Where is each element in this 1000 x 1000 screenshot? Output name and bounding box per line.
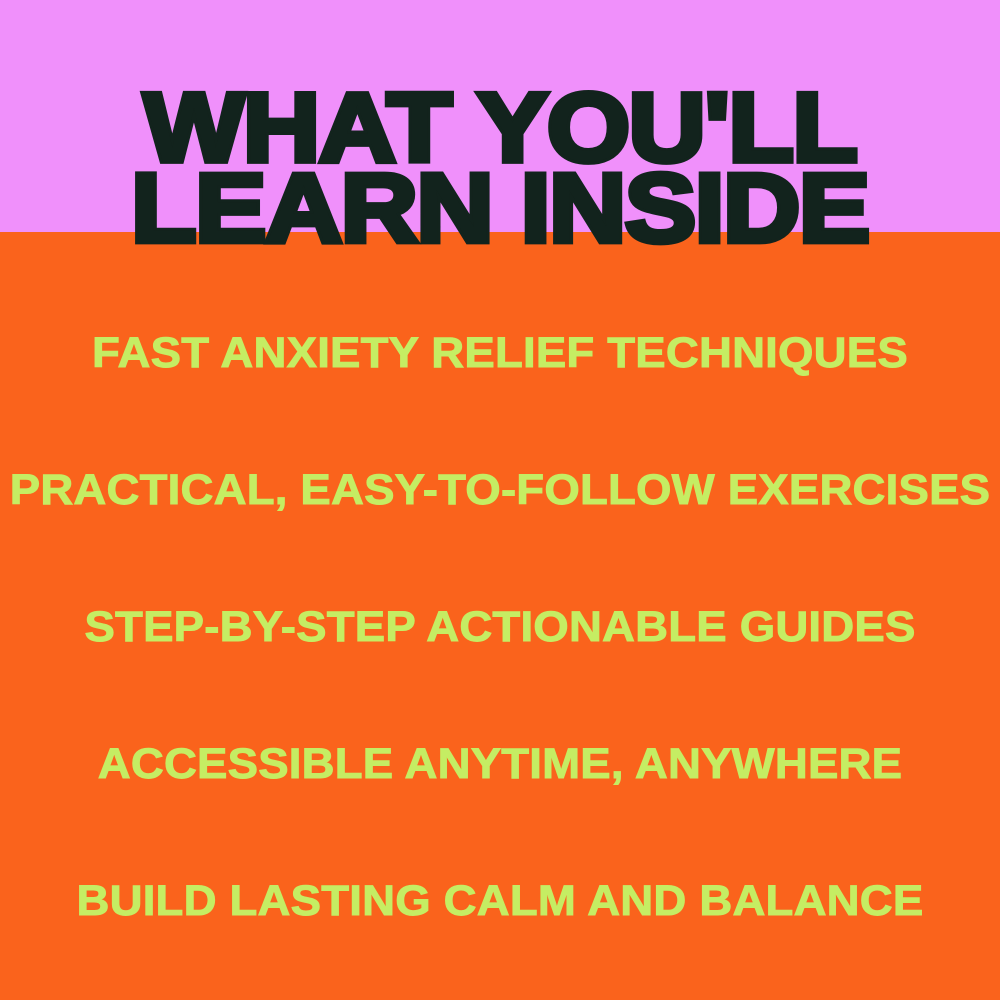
benefit-item: BUILD LASTING CALM AND BALANCE xyxy=(0,880,1000,923)
promo-card: WHAT YOU'LLLEARN INSIDE FAST ANXIETY REL… xyxy=(0,0,1000,1000)
benefit-item: STEP-BY-STEP ACTIONABLE GUIDES xyxy=(0,606,1000,649)
header-band: WHAT YOU'LLLEARN INSIDE xyxy=(0,0,1000,232)
page-title: WHAT YOU'LLLEARN INSIDE xyxy=(0,90,1000,248)
benefit-item: ACCESSIBLE ANYTIME, ANYWHERE xyxy=(0,743,1000,786)
benefit-item: FAST ANXIETY RELIEF TECHNIQUES xyxy=(0,332,1000,375)
benefit-item: PRACTICAL, EASY-TO-FOLLOW EXERCISES xyxy=(0,469,1000,512)
benefits-list: FAST ANXIETY RELIEF TECHNIQUES PRACTICAL… xyxy=(0,232,1000,1000)
